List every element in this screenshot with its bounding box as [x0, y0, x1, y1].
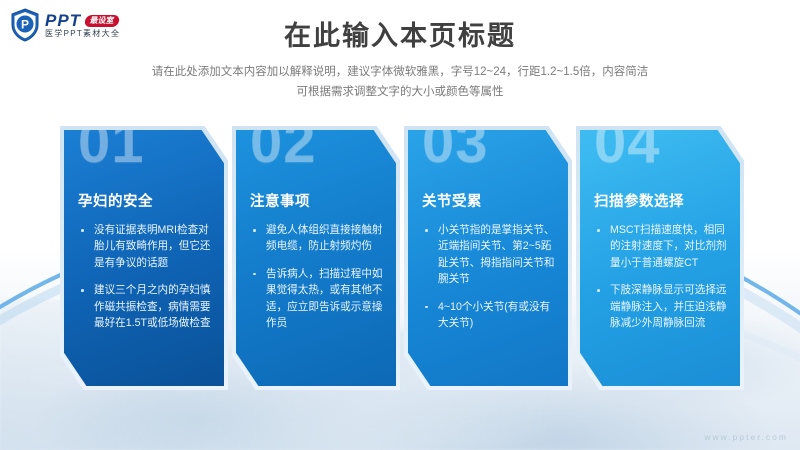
card-bullet-list: 小关节指的是掌指关节、近端指间关节、第2~5跖趾关节、拇指指间关节和腕关节 4~…: [418, 222, 560, 342]
card-bullet-list: MSCT扫描速度快，相同的注射速度下，对比剂剂量小于普通螺旋CT 下肢深静脉显示…: [590, 222, 732, 342]
list-item: 告诉病人，扫描过程中如果觉得太热，或有其他不适，应立即告诉或示意操作员: [246, 266, 388, 332]
card-number: 04: [594, 130, 661, 172]
card-heading: 孕妇的安全: [78, 190, 153, 211]
card-body: 02 注意事项 避免人体组织直接接触射频电缆，防止射频灼伤 告诉病人，扫描过程中…: [236, 130, 396, 386]
page-subtitle-line-2: 可根据需求调整文字的大小或颜色等属性: [60, 82, 740, 102]
list-item: MSCT扫描速度快，相同的注射速度下，对比剂剂量小于普通螺旋CT: [590, 222, 732, 271]
card-row: 01 孕妇的安全 没有证据表明MRI检查对胎儿有致畸作用，但它还是有争议的话题 …: [0, 126, 800, 396]
page-title: 在此输入本页标题: [0, 14, 800, 53]
card-heading: 关节受累: [422, 190, 482, 211]
page-subtitle: 请在此处添加文本内容加以解释说明，建议字体微软雅黑，字号12~24，行距1.2~…: [60, 62, 740, 102]
card-03[interactable]: 03 关节受累 小关节指的是掌指关节、近端指间关节、第2~5跖趾关节、拇指指间关…: [400, 126, 578, 394]
card-number: 03: [422, 130, 489, 172]
card-body: 01 孕妇的安全 没有证据表明MRI检查对胎儿有致畸作用，但它还是有争议的话题 …: [64, 130, 224, 386]
card-number: 02: [250, 130, 317, 172]
card-bullet-list: 没有证据表明MRI检查对胎儿有致畸作用，但它还是有争议的话题 建议三个月之内的孕…: [74, 222, 216, 342]
card-02[interactable]: 02 注意事项 避免人体组织直接接触射频电缆，防止射频灼伤 告诉病人，扫描过程中…: [228, 126, 406, 394]
list-item: 下肢深静脉显示可选择远端静脉注入，并压迫浅静脉减少外周静脉回流: [590, 282, 732, 331]
list-item: 避免人体组织直接接触射频电缆，防止射频灼伤: [246, 222, 388, 255]
card-number: 01: [78, 130, 145, 172]
list-item: 建议三个月之内的孕妇慎作磁共振检查，病情需要最好在1.5T或低场做检查: [74, 282, 216, 331]
card-body: 03 关节受累 小关节指的是掌指关节、近端指间关节、第2~5跖趾关节、拇指指间关…: [408, 130, 568, 386]
card-heading: 注意事项: [250, 190, 310, 211]
slide-canvas: P PPT 最设室 医学PPT素材大全 在此输入本页标题 请在此处添加文本内容加…: [0, 0, 800, 450]
list-item: 4~10个小关节(有或没有大关节): [418, 299, 560, 332]
list-item: 没有证据表明MRI检查对胎儿有致畸作用，但它还是有争议的话题: [74, 222, 216, 271]
card-heading: 扫描参数选择: [594, 190, 684, 211]
site-watermark: www.ppter.com: [704, 432, 788, 442]
card-01[interactable]: 01 孕妇的安全 没有证据表明MRI检查对胎儿有致畸作用，但它还是有争议的话题 …: [56, 126, 234, 394]
card-bullet-list: 避免人体组织直接接触射频电缆，防止射频灼伤 告诉病人，扫描过程中如果觉得太热，或…: [246, 222, 388, 342]
list-item: 小关节指的是掌指关节、近端指间关节、第2~5跖趾关节、拇指指间关节和腕关节: [418, 222, 560, 288]
page-subtitle-line-1: 请在此处添加文本内容加以解释说明，建议字体微软雅黑，字号12~24，行距1.2~…: [60, 62, 740, 82]
card-04[interactable]: 04 扫描参数选择 MSCT扫描速度快，相同的注射速度下，对比剂剂量小于普通螺旋…: [572, 126, 750, 394]
card-body: 04 扫描参数选择 MSCT扫描速度快，相同的注射速度下，对比剂剂量小于普通螺旋…: [580, 130, 740, 386]
